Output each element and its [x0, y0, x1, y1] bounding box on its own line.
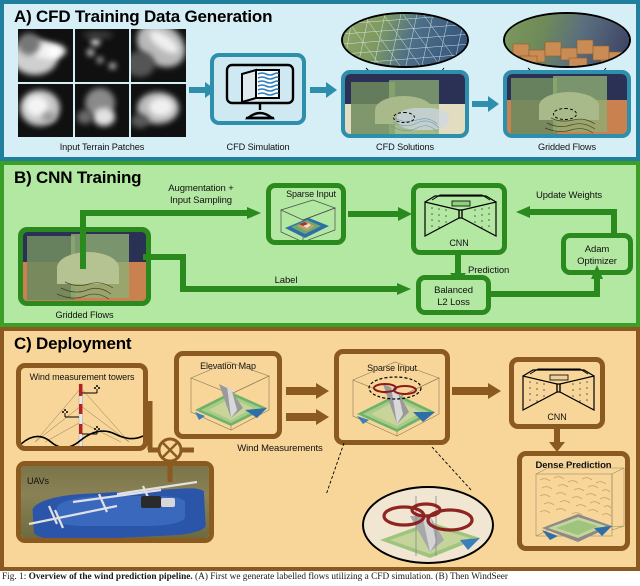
- cnn-label-b: CNN: [416, 238, 502, 248]
- panel-c-deployment: C) Deployment Wind measurement towers: [0, 327, 640, 571]
- gridded-flows-label-b: Gridded Flows: [18, 310, 151, 320]
- cfd-simulation-box: [210, 53, 306, 125]
- cnn-hourglass-icon: [422, 192, 500, 244]
- cfd-simulation-label: CFD Simulation: [210, 142, 306, 152]
- sparse-input-box-c: Sparse Input: [334, 349, 450, 445]
- arrow-right-icon-c2: [286, 409, 330, 425]
- input-terrain-patches: [18, 29, 186, 137]
- dense-prediction-box: Dense Prediction: [517, 451, 630, 551]
- balanced-l2-loss-box: Balanced L2 Loss: [416, 275, 491, 315]
- towers-label: Wind measurement towers: [21, 372, 143, 382]
- panel-c-title: C) Deployment: [14, 334, 131, 354]
- cnn-hourglass-icon-c: [520, 366, 598, 418]
- caption-bold: Overview of the wind prediction pipeline…: [29, 572, 193, 582]
- label-label: Label: [256, 275, 316, 286]
- elevation-terrain-icon: [183, 360, 277, 434]
- magnified-uav-paths-icon: [364, 488, 494, 564]
- uavs-label: UAVs: [27, 476, 67, 486]
- update-weights-label: Update Weights: [509, 190, 629, 201]
- terrain-patch: [75, 29, 130, 82]
- mesh-triangles-icon: [343, 14, 469, 68]
- terrain-patch: [131, 84, 186, 137]
- caption-rest: (A) First we generate labelled flows uti…: [195, 572, 508, 582]
- elevation-map-box: Elevation Map: [174, 351, 282, 439]
- cfd-solution-scene: [345, 74, 465, 134]
- gridded-flows-scene: [507, 74, 627, 134]
- sparse-input-magnified-ellipse: [362, 486, 494, 564]
- arrow-down-icon-c: [549, 427, 565, 453]
- panel-b-cnn-training: B) CNN Training Gridded Flows Au: [0, 161, 640, 327]
- sparse-terrain-icon: [345, 358, 445, 442]
- cfd-solutions-zoom-ellipse: [341, 12, 469, 68]
- bounding-cube-icon: [275, 198, 341, 242]
- adam-label-line1: Adam: [566, 244, 628, 255]
- input-terrain-patches-label: Input Terrain Patches: [18, 142, 186, 152]
- arrow-right-icon-a2: [310, 82, 338, 98]
- terrain-patch: [18, 29, 73, 82]
- monitor-icon: [224, 62, 296, 122]
- cnn-box-b: CNN: [411, 183, 507, 255]
- cfd-solutions-box: [341, 70, 469, 138]
- loss-label-line1: Balanced: [421, 285, 486, 296]
- arrow-right-icon-b1: [348, 207, 414, 221]
- wind-measurement-towers-box: Wind measurement towers: [16, 363, 148, 451]
- flow-streamlines-icon: [345, 74, 465, 134]
- cnn-box-c: CNN: [509, 357, 605, 429]
- arrow-label-path: [139, 253, 419, 295]
- terrain-patch: [131, 29, 186, 82]
- loss-label-line2: L2 Loss: [421, 297, 486, 308]
- arrow-right-icon-c3: [452, 383, 502, 399]
- towers-link-line: [144, 401, 158, 453]
- panel-b-title: B) CNN Training: [14, 168, 141, 188]
- tower-diagram-icon: [21, 382, 143, 448]
- figure-caption: Fig. 1: Overview of the wind prediction …: [0, 572, 640, 583]
- gridded-streamlines-icon: [507, 74, 627, 134]
- panel-a-cfd-training-data-generation: A) CFD Training Data Generation: [0, 0, 640, 161]
- gridded-flows-label-a: Gridded Flows: [503, 142, 631, 152]
- terrain-patch: [75, 84, 130, 137]
- arrow-right-icon-a3: [472, 96, 500, 112]
- terrain-patch: [18, 84, 73, 137]
- augmentation-label-line1: Augmentation +: [126, 183, 276, 194]
- arrow-right-icon-c1: [286, 383, 330, 399]
- cfd-solutions-label: CFD Solutions: [341, 142, 469, 152]
- caption-prefix: Fig. 1:: [2, 572, 26, 582]
- arrow-loss-to-adam-path: [488, 261, 613, 297]
- panel-a-title: A) CFD Training Data Generation: [14, 7, 272, 27]
- figure-root: A) CFD Training Data Generation: [0, 0, 640, 586]
- cnn-label-c: CNN: [514, 412, 600, 422]
- voxel-blocks-icon: [505, 14, 631, 68]
- dense-prediction-icon: [528, 470, 626, 550]
- sparse-input-box-b: Sparse Input: [266, 183, 346, 245]
- augmentation-label-line2: Input Sampling: [126, 195, 276, 206]
- gridded-flows-box: [503, 70, 631, 138]
- gridded-flows-zoom-ellipse: [503, 12, 631, 68]
- sparse-input-label-b: Sparse Input: [271, 189, 346, 199]
